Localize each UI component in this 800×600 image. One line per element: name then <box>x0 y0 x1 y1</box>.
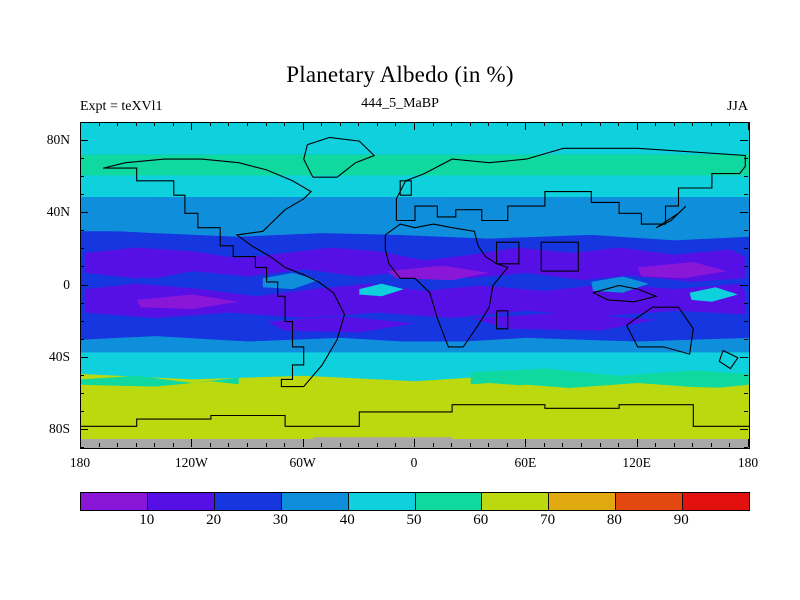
axis-tick <box>99 122 100 126</box>
x-axis-tick-label: 120W <box>175 455 208 471</box>
axis-tick <box>451 443 452 447</box>
colorbar-band <box>482 493 549 510</box>
x-axis-tick-label: 180 <box>70 455 90 471</box>
axis-tick <box>748 122 749 130</box>
axis-tick <box>358 122 359 126</box>
axis-tick <box>99 443 100 447</box>
axis-tick <box>433 443 434 447</box>
axis-tick <box>247 443 248 447</box>
colorbar <box>80 492 750 511</box>
axis-tick <box>80 248 84 249</box>
axis-tick <box>451 122 452 126</box>
axis-tick <box>692 122 693 126</box>
x-axis-tick-label: 180 <box>738 455 758 471</box>
y-axis-tick-label: 40N <box>26 204 70 220</box>
axis-tick <box>154 443 155 447</box>
axis-tick <box>210 443 211 447</box>
axis-tick <box>744 230 748 231</box>
axis-tick <box>191 439 192 447</box>
axis-tick <box>711 122 712 126</box>
planetary-albedo-figure: Planetary Albedo (in %) Expt = teXVl1 44… <box>0 0 800 600</box>
axis-tick <box>692 443 693 447</box>
axis-tick <box>744 447 748 448</box>
axis-tick <box>80 303 84 304</box>
axis-tick <box>740 212 748 213</box>
axis-tick <box>729 122 730 126</box>
axis-tick <box>655 443 656 447</box>
axis-tick <box>377 443 378 447</box>
axis-tick <box>581 122 582 126</box>
axis-tick <box>600 443 601 447</box>
axis-tick <box>266 443 267 447</box>
axis-tick <box>191 122 192 130</box>
axis-tick <box>507 443 508 447</box>
colorbar-tick-label: 10 <box>139 512 154 529</box>
axis-tick <box>674 443 675 447</box>
axis-tick <box>80 122 84 123</box>
x-axis-tick-label: 60E <box>514 455 536 471</box>
axis-tick <box>80 140 88 141</box>
axis-tick <box>711 443 712 447</box>
axis-tick <box>544 122 545 126</box>
axis-tick <box>744 194 748 195</box>
colorbar-band <box>683 493 749 510</box>
axis-tick <box>618 122 619 126</box>
colorbar-band <box>549 493 616 510</box>
axis-tick <box>154 122 155 126</box>
axis-tick <box>266 122 267 126</box>
axis-tick <box>433 122 434 126</box>
axis-tick <box>228 443 229 447</box>
axis-tick <box>414 122 415 130</box>
axis-tick <box>740 285 748 286</box>
axis-tick <box>136 443 137 447</box>
axis-tick <box>80 393 84 394</box>
axis-tick <box>744 321 748 322</box>
y-axis-tick-label: 80S <box>26 421 70 437</box>
axis-tick <box>744 266 748 267</box>
axis-tick <box>117 122 118 126</box>
axis-tick <box>303 439 304 447</box>
colorbar-band <box>416 493 483 510</box>
axis-tick <box>228 122 229 126</box>
axis-tick <box>744 393 748 394</box>
colorbar-band <box>349 493 416 510</box>
axis-tick <box>321 443 322 447</box>
axis-tick <box>488 122 489 126</box>
axis-tick <box>173 443 174 447</box>
colorbar-tick-label: 50 <box>407 512 422 529</box>
axis-tick <box>744 158 748 159</box>
axis-tick <box>729 443 730 447</box>
axis-tick <box>173 122 174 126</box>
colorbar-band <box>81 493 148 510</box>
axis-tick <box>247 122 248 126</box>
axis-tick <box>80 194 84 195</box>
axis-tick <box>80 339 84 340</box>
axis-tick <box>470 122 471 126</box>
axis-tick <box>377 122 378 126</box>
axis-tick <box>740 357 748 358</box>
axis-tick <box>80 375 84 376</box>
axis-tick <box>470 443 471 447</box>
axis-tick <box>284 122 285 126</box>
x-axis-tick-label: 120E <box>622 455 651 471</box>
colorbar-band <box>215 493 282 510</box>
axis-tick <box>117 443 118 447</box>
season-label: JJA <box>727 99 748 115</box>
axis-tick <box>525 122 526 130</box>
colorbar-band <box>282 493 349 510</box>
axis-tick <box>395 122 396 126</box>
axis-tick <box>358 443 359 447</box>
axis-tick <box>80 411 84 412</box>
axis-tick <box>744 122 748 123</box>
axis-tick <box>303 122 304 130</box>
axis-tick <box>414 439 415 447</box>
axis-tick <box>80 212 88 213</box>
colorbar-tick-label: 80 <box>607 512 622 529</box>
axis-tick <box>80 176 84 177</box>
axis-tick <box>562 122 563 126</box>
axis-tick <box>618 443 619 447</box>
colorbar-band <box>148 493 215 510</box>
axis-tick <box>744 303 748 304</box>
map-plot-area <box>80 122 750 449</box>
axis-tick <box>80 321 84 322</box>
axis-tick <box>744 248 748 249</box>
axis-tick <box>525 439 526 447</box>
case-label: 444_5_MaBP <box>0 96 800 112</box>
axis-tick <box>80 439 81 447</box>
axis-tick <box>136 122 137 126</box>
axis-tick <box>80 285 88 286</box>
axis-tick <box>744 375 748 376</box>
axis-tick <box>637 122 638 130</box>
colorbar-tick-label: 40 <box>340 512 355 529</box>
axis-tick <box>674 122 675 126</box>
axis-tick <box>600 122 601 126</box>
axis-tick <box>395 443 396 447</box>
colorbar-tick-label: 30 <box>273 512 288 529</box>
axis-tick <box>562 443 563 447</box>
colorbar-tick-label: 90 <box>674 512 689 529</box>
x-axis-tick-label: 60W <box>290 455 316 471</box>
axis-tick <box>544 443 545 447</box>
axis-tick <box>507 122 508 126</box>
axis-tick <box>744 176 748 177</box>
axis-tick <box>744 411 748 412</box>
axis-tick <box>637 439 638 447</box>
y-axis-tick-label: 80N <box>26 132 70 148</box>
axis-tick <box>340 443 341 447</box>
colorbar-band <box>616 493 683 510</box>
y-axis-tick-label: 40S <box>26 349 70 365</box>
y-axis-tick-label: 0 <box>26 277 70 293</box>
axis-tick <box>210 122 211 126</box>
axis-tick <box>80 266 84 267</box>
axis-tick <box>80 357 88 358</box>
axis-tick <box>80 447 84 448</box>
axis-tick <box>655 122 656 126</box>
axis-tick <box>321 122 322 126</box>
axis-tick <box>80 429 88 430</box>
axis-tick <box>748 439 749 447</box>
page-title: Planetary Albedo (in %) <box>0 62 800 88</box>
x-axis-tick-label: 0 <box>411 455 418 471</box>
axis-tick <box>488 443 489 447</box>
axis-tick <box>80 158 84 159</box>
axis-tick <box>80 230 84 231</box>
albedo-contour-map <box>81 123 749 448</box>
axis-tick <box>740 140 748 141</box>
axis-tick <box>740 429 748 430</box>
axis-tick <box>284 443 285 447</box>
axis-tick <box>340 122 341 126</box>
axis-tick <box>581 443 582 447</box>
axis-tick <box>744 339 748 340</box>
colorbar-tick-label: 70 <box>540 512 555 529</box>
colorbar-tick-label: 20 <box>206 512 221 529</box>
colorbar-tick-label: 60 <box>473 512 488 529</box>
axis-tick <box>80 122 81 130</box>
